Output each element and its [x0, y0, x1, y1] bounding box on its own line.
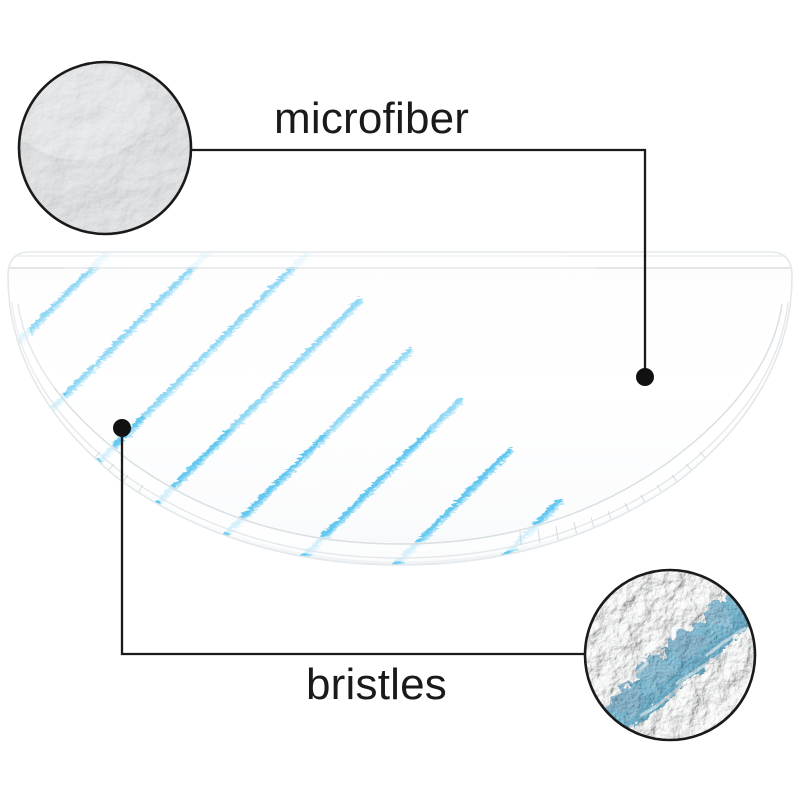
infographic-canvas: microfiber bristles — [0, 0, 800, 800]
microfiber-texture-highlight — [10, 60, 150, 160]
microfiber-leader-dot — [636, 368, 654, 386]
microfiber-magnifier — [10, 60, 191, 234]
callout-label-microfiber: microfiber — [274, 94, 469, 144]
mop-pad-highlight — [0, 225, 660, 435]
bristles-magnifier — [585, 570, 760, 746]
callout-label-bristles: bristles — [306, 660, 447, 710]
